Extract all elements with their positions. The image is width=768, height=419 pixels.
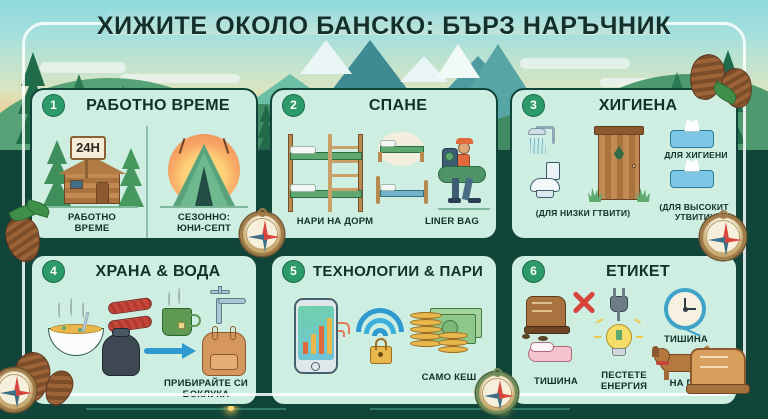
coins-icon: [410, 319, 442, 326]
clock-center: [683, 307, 688, 312]
coins-icon: [438, 332, 468, 339]
pillow-icon: [290, 184, 316, 192]
panel-number-badge: 2: [282, 94, 305, 117]
sign-text: 24H: [72, 138, 104, 158]
boot-sole: [686, 384, 750, 394]
trash-bag-icon: [102, 334, 140, 376]
panel-caption: СЕЗОННО: ЮНИ-СЕПТ: [154, 212, 254, 234]
backpack-strap: [212, 326, 218, 340]
panel-number-badge: 4: [42, 260, 65, 283]
lock-keyhole: [378, 352, 383, 357]
cabin-door-icon: [96, 182, 109, 204]
signal-bar: [303, 342, 308, 354]
signal-wave-icon: [338, 330, 345, 337]
tap-stem: [218, 286, 222, 294]
tea-bag-icon: [178, 322, 185, 329]
sign-post-icon: [85, 160, 88, 178]
power-plug-icon: [610, 296, 628, 312]
soup-vegetable: [62, 326, 66, 330]
arrow-right-icon: [144, 348, 186, 354]
panel-title: ТЕХНОЛОГИИ & ПАРИ: [306, 260, 490, 283]
panel-higiena[interactable]: 3 ХИГИЕНА ДЛЯ ХИГИЕНИ (ДЛЯ НИЗ: [510, 88, 738, 240]
hiker-boot: [448, 198, 461, 203]
shower-icon: [552, 128, 555, 144]
boot-sole: [524, 326, 570, 334]
shower-head: [528, 128, 546, 135]
steam-icon: [168, 292, 171, 306]
pillow-icon: [380, 140, 396, 147]
compass-rose-icon: [700, 214, 746, 260]
steam-icon: [82, 302, 85, 318]
tap-spout: [218, 298, 246, 304]
steam-icon: [70, 298, 73, 316]
ground-line: [46, 206, 138, 208]
hiker-boot: [468, 198, 481, 203]
tea-mug-icon: [162, 308, 192, 336]
cloud-icon: [40, 62, 126, 73]
compass-rose-icon: [476, 372, 518, 414]
bed-leg: [420, 152, 424, 162]
cabin-window-icon: [70, 180, 83, 189]
page-title: ХИЖИТЕ ОКОЛО БАНСКО: БЪРЗ НАРЪЧНИК: [0, 12, 768, 41]
steam-icon: [58, 302, 61, 318]
hiker-leg: [452, 178, 459, 200]
mud-splat: [538, 336, 548, 341]
mud-splat: [522, 334, 530, 339]
ground-line: [160, 206, 248, 208]
panel-tehnologii-pari[interactable]: 5 ТЕХНОЛОГИИ & ПАРИ: [270, 254, 498, 406]
panel-caption: ТИШИНА: [520, 376, 592, 387]
bulb-ray: [634, 318, 641, 323]
plug-cord: [617, 311, 620, 321]
arrow-head-icon: [182, 343, 196, 359]
single-bed-icon: [380, 190, 424, 197]
panel-number-badge: 5: [282, 260, 305, 283]
boot-lace: [532, 310, 552, 312]
panel-caption: LINER BAG: [408, 216, 496, 227]
compass-rose-icon: [240, 212, 284, 256]
bulb-base: [612, 348, 626, 356]
coins-icon: [438, 346, 468, 353]
panel-number-badge: 1: [42, 94, 65, 117]
bulb-ray: [594, 336, 601, 338]
panel-caption: НАРИ НА ДОРМ: [280, 216, 390, 227]
pillow-icon: [380, 184, 396, 191]
backpack-pocket: [445, 152, 454, 161]
single-bed-icon: [380, 146, 424, 153]
sign-24h-icon: 24H: [70, 136, 106, 160]
ladder-step: [332, 174, 358, 177]
bulb-ray: [596, 318, 603, 323]
panel-grid: 1 РАБОТНО ВРЕМЕ 24H: [30, 88, 738, 406]
signal-bar: [311, 334, 316, 354]
wet-wipes-icon: [670, 130, 714, 148]
bed-headboard: [376, 176, 380, 204]
coins-icon: [438, 339, 468, 346]
panel-number-badge: 6: [522, 260, 545, 283]
infographic-canvas: ХИЖИТЕ ОКОЛО БАНСКО: БЪРЗ НАРЪЧНИК 1 РАБ…: [0, 0, 768, 419]
trash-bag-tie: [112, 328, 130, 337]
tissue-icon: [684, 118, 700, 132]
pillow-icon: [290, 146, 316, 154]
panel-caption: РАБОТНО ВРЕМЕ: [44, 212, 140, 234]
toilet-base: [536, 190, 554, 198]
signal-bar: [327, 318, 332, 354]
panel-caption: ТИШИНА: [654, 334, 718, 345]
ladder-step: [332, 146, 358, 149]
coins-icon: [410, 312, 442, 319]
panel-caption: ДЛЯ ХИГИЕНИ: [658, 150, 734, 160]
plug-prong: [622, 288, 625, 297]
panel-title: РАБОТНО ВРЕМЕ: [66, 94, 250, 117]
tent-door-icon: [195, 166, 213, 206]
steam-icon: [178, 288, 181, 304]
panel-rabotno-vreme[interactable]: 1 РАБОТНО ВРЕМЕ 24H: [30, 88, 258, 240]
panel-title: СПАНЕ: [306, 94, 490, 117]
boot-lace: [532, 302, 552, 304]
wet-wipes-icon: [670, 170, 714, 188]
boot-lace: [700, 366, 728, 368]
bed-footboard: [424, 180, 428, 204]
string-light-wire: [86, 408, 286, 410]
string-light-wire: [370, 408, 570, 410]
lock-shackle: [375, 338, 387, 350]
water-drops: [530, 138, 546, 154]
boot-lace: [700, 356, 728, 358]
hiking-boot-icon: [690, 348, 746, 388]
ground-line: [438, 208, 490, 210]
bed-leg: [378, 152, 382, 162]
panel-title: ХРАНА & ВОДА: [66, 260, 250, 283]
dog-collar: [656, 361, 669, 365]
sleeping-bag-icon: [438, 166, 486, 183]
hiker-cap: [456, 138, 473, 144]
ladder-step: [332, 160, 358, 163]
sausage-icon: [107, 297, 152, 315]
slipper-trim: [530, 342, 554, 352]
door-knob: [632, 164, 636, 168]
dog-ear: [652, 346, 659, 357]
ladder-step: [332, 188, 358, 191]
backpack-pocket: [210, 354, 238, 370]
phone-home-button: [311, 362, 320, 371]
mountain-snow-icon: [300, 40, 352, 74]
panel-caption: ПРИБИРАЙТЕ СИ БОКЛУКА: [154, 378, 258, 400]
mountain-snow-icon: [436, 44, 480, 78]
bulb-ray: [636, 336, 643, 338]
plug-prong: [613, 288, 616, 297]
backpack-strap: [230, 326, 236, 340]
tissue-icon: [684, 158, 700, 172]
panel-caption: (ДЛЯ НИЗКИ ГТВИТИ): [518, 208, 648, 218]
panel-number-badge: 3: [522, 94, 545, 117]
panel-divider: [146, 126, 148, 238]
panel-caption: ПЕСТЕТЕ ЕНЕРГИЯ: [590, 370, 658, 392]
bunk-bed-post: [358, 134, 363, 212]
signal-bar: [319, 326, 324, 354]
bulb-filament: [616, 330, 622, 340]
mug-handle: [190, 314, 201, 327]
panel-spane[interactable]: 2 СПАНЕ: [270, 88, 498, 240]
coins-icon: [410, 326, 442, 333]
soup-broth: [50, 324, 102, 334]
panel-title: ЕТИКЕТ: [546, 260, 730, 283]
